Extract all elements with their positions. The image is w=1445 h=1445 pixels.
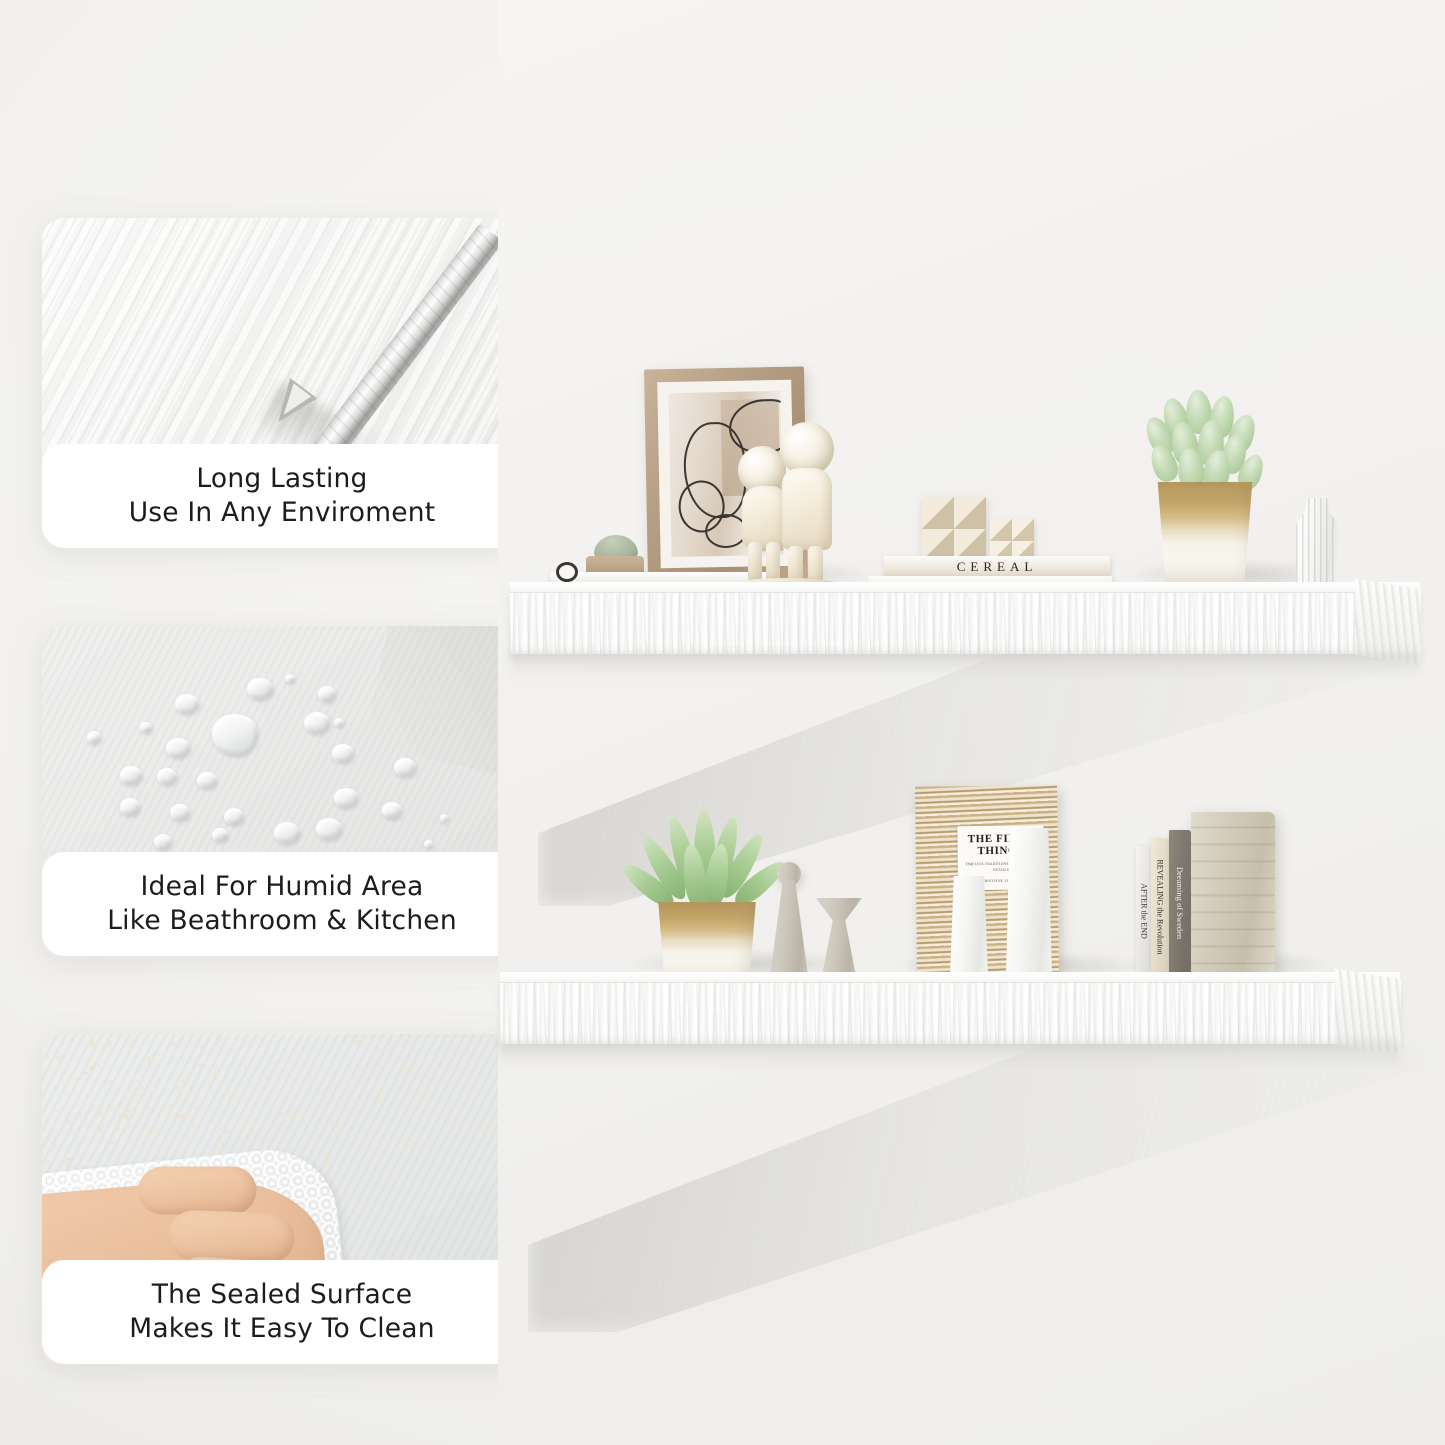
crumb: [156, 1076, 160, 1081]
water-droplet: [334, 788, 358, 808]
crumb: [378, 1048, 381, 1052]
crumb: [141, 1144, 145, 1149]
crumb: [358, 1097, 363, 1101]
crumb: [130, 1092, 135, 1095]
crumb: [264, 1075, 269, 1079]
caption-line-1: Long Lasting: [196, 462, 367, 496]
crumb: [442, 1113, 446, 1115]
crumb: [247, 1100, 250, 1103]
crumb: [247, 1078, 250, 1081]
crumb: [61, 1072, 64, 1075]
cream-leather-bound-book: [1191, 812, 1275, 976]
crumb: [98, 1064, 101, 1067]
spine-title: AFTER the END: [1139, 883, 1148, 939]
water-droplet: [87, 731, 101, 744]
crumb: [377, 1097, 380, 1102]
crumb: [377, 1130, 380, 1134]
water-droplet: [120, 766, 142, 785]
feature-card-long-lasting: Long Lasting Use In Any Enviroment: [42, 218, 522, 548]
crumb: [306, 1060, 309, 1064]
crumb: [466, 1065, 468, 1069]
crumb: [427, 1099, 429, 1103]
crumb: [190, 1090, 195, 1093]
crumb: [90, 1095, 93, 1098]
crumb: [129, 1043, 133, 1047]
crumb: [347, 1085, 351, 1089]
crumb: [65, 1160, 69, 1165]
crumb: [176, 1043, 181, 1046]
crumb: [88, 1056, 93, 1059]
crumb: [224, 1091, 229, 1094]
feature-caption: Long Lasting Use In Any Enviroment: [42, 444, 522, 548]
crumb: [140, 1115, 143, 1118]
water-droplet: [175, 694, 199, 714]
feature-card-easy-clean: The Sealed Surface Makes It Easy To Clea…: [42, 1034, 522, 1364]
crumb: [244, 1066, 248, 1071]
crumb: [199, 1121, 201, 1123]
water-droplet: [285, 674, 295, 683]
crumb: [366, 1112, 369, 1116]
water-droplet: [120, 798, 140, 816]
crumb: [375, 1117, 378, 1120]
crumb: [148, 1060, 152, 1064]
water-droplet: [170, 804, 190, 821]
crumb: [159, 1054, 161, 1056]
book-title: CEREAL: [884, 559, 1110, 575]
crumb: [290, 1083, 292, 1086]
crumb: [109, 1080, 114, 1083]
crumb: [225, 1130, 229, 1134]
crumb: [367, 1163, 371, 1166]
crumb: [464, 1073, 466, 1076]
crumb: [312, 1059, 314, 1062]
crumb: [279, 1112, 284, 1116]
crumb: [56, 1109, 59, 1112]
gold-white-glazed-pot: [654, 902, 760, 982]
taupe-candle-holder-tall: [770, 862, 808, 976]
crumb: [386, 1142, 389, 1145]
crumb: [87, 1122, 92, 1126]
crumb: [345, 1080, 348, 1085]
crumb: [292, 1099, 296, 1101]
water-droplet: [140, 722, 152, 733]
crumb: [73, 1103, 78, 1106]
shelf-underside-shadow: [510, 652, 1420, 678]
crumb: [147, 1098, 152, 1100]
crumb: [454, 1126, 456, 1128]
crumb: [465, 1100, 469, 1105]
figure-body-left: [742, 486, 786, 548]
crumb: [261, 1038, 263, 1043]
crumb: [199, 1063, 202, 1067]
shelf-front-edge: [500, 982, 1400, 1044]
succulent-in-gold-white-pot: [1134, 390, 1294, 586]
crumb: [387, 1055, 389, 1060]
water-droplet: [154, 834, 172, 850]
feature-card-humid-area: Ideal For Humid Area Like Beathroom & Ki…: [42, 626, 522, 956]
crumb: [338, 1109, 341, 1112]
crumb: [218, 1149, 221, 1154]
crumb: [325, 1161, 330, 1165]
crumb: [402, 1043, 407, 1046]
water-droplet: [334, 718, 344, 727]
crumb: [452, 1091, 455, 1093]
crumb: [303, 1111, 306, 1115]
crumb: [57, 1055, 62, 1060]
crumb: [220, 1142, 224, 1147]
crumb: [99, 1124, 104, 1128]
crumb: [414, 1144, 418, 1147]
water-droplet: [247, 678, 273, 700]
crumb: [307, 1074, 312, 1077]
figure-leg: [748, 542, 762, 582]
crumb: [361, 1059, 364, 1061]
crumb: [457, 1131, 462, 1134]
crumb: [275, 1145, 278, 1149]
crumb: [118, 1104, 120, 1106]
crumb: [463, 1216, 468, 1219]
crumb: [90, 1066, 95, 1069]
crumb: [60, 1042, 64, 1045]
crumb: [219, 1127, 222, 1130]
crumb: [314, 1076, 319, 1080]
crumb: [136, 1094, 141, 1097]
book-spine-revolution: REVEALING the Revolution: [1151, 838, 1169, 976]
crumb: [179, 1037, 184, 1041]
crumb: [282, 1094, 285, 1099]
crumb: [387, 1038, 392, 1041]
crumb: [331, 1078, 336, 1080]
crumb: [109, 1140, 114, 1144]
crumb: [107, 1102, 109, 1107]
crumb: [188, 1117, 193, 1119]
feature-caption: Ideal For Humid Area Like Beathroom & Ki…: [42, 852, 522, 956]
crumb: [329, 1141, 332, 1143]
shelf-underside-shadow: [500, 1042, 1400, 1068]
crumb: [211, 1122, 216, 1124]
crumb: [406, 1089, 409, 1091]
finger: [138, 1166, 256, 1214]
crumb: [168, 1104, 172, 1106]
holder-flared-base: [822, 920, 856, 976]
crumb: [119, 1114, 121, 1118]
water-droplet: [332, 744, 354, 763]
crumb: [429, 1177, 433, 1180]
crumb: [67, 1119, 70, 1124]
crumb: [242, 1093, 247, 1097]
crumb: [293, 1050, 298, 1054]
crumb: [219, 1039, 223, 1043]
crumb: [75, 1078, 79, 1081]
spine-title: REVEALING the Revolution: [1156, 859, 1165, 954]
agave-plant-in-gold-white-pot: [632, 810, 782, 976]
crumb: [228, 1096, 232, 1101]
figure-leg: [766, 542, 780, 582]
crumb: [45, 1138, 50, 1142]
water-droplet: [424, 840, 433, 848]
shelf-scene: CEREAL UNION: [498, 0, 1445, 1445]
crumb: [134, 1126, 136, 1129]
caption-line-2: Like Beathroom & Kitchen: [107, 904, 457, 938]
crumb: [472, 1130, 476, 1133]
crumb: [177, 1092, 182, 1095]
crumb: [127, 1049, 129, 1052]
crumb: [492, 1042, 495, 1045]
crumb: [227, 1146, 230, 1149]
crumb: [361, 1075, 366, 1077]
crumb: [65, 1092, 68, 1095]
crumb: [271, 1122, 275, 1125]
crumb: [454, 1117, 456, 1120]
crumb: [380, 1067, 383, 1071]
crumb: [248, 1130, 253, 1135]
faceted-cube-sculpture-large: [922, 497, 986, 561]
feature-card-list: Long Lasting Use In Any Enviroment Ideal…: [42, 218, 522, 1442]
crumb: [452, 1083, 457, 1087]
crumb: [492, 1165, 496, 1169]
water-droplet: [440, 814, 448, 822]
crumb: [92, 1061, 96, 1065]
crumb: [365, 1107, 368, 1112]
crumb: [166, 1137, 169, 1141]
stacked-book-cereal: CEREAL: [884, 556, 1110, 578]
crumb: [407, 1068, 410, 1070]
crumb: [152, 1053, 154, 1057]
crumb: [404, 1067, 407, 1071]
caption-line-1: Ideal For Humid Area: [141, 870, 424, 904]
crumb: [329, 1120, 334, 1124]
crumb: [126, 1109, 129, 1112]
crumb: [46, 1055, 50, 1058]
crumb: [265, 1096, 267, 1101]
crumb: [264, 1134, 268, 1137]
crumb: [354, 1139, 357, 1142]
crumb: [327, 1115, 330, 1117]
small-ring-object: [556, 562, 578, 582]
crumb: [156, 1151, 158, 1154]
water-droplet: [197, 772, 217, 789]
crumb: [405, 1084, 410, 1086]
crumb: [61, 1068, 66, 1071]
crumb: [283, 1069, 288, 1074]
crumb: [426, 1075, 429, 1079]
crumb: [232, 1104, 234, 1106]
crumb: [214, 1067, 217, 1070]
crumb: [409, 1103, 412, 1107]
crumb: [91, 1135, 94, 1140]
crumb: [468, 1048, 470, 1053]
crumb: [122, 1128, 126, 1133]
crumb: [413, 1063, 417, 1067]
crumb: [142, 1091, 146, 1095]
crumb: [98, 1103, 103, 1108]
crumb: [403, 1148, 406, 1151]
finger: [168, 1210, 296, 1264]
gold-white-glazed-pot: [1150, 482, 1260, 582]
figure-body-right: [782, 468, 832, 550]
crumb: [403, 1100, 408, 1103]
crumb: [367, 1213, 370, 1215]
crumb: [378, 1091, 382, 1096]
crumb: [248, 1045, 253, 1047]
product-feature-image: SEALED FOR MOISTURE PROTECTION Long Last…: [0, 0, 1445, 1445]
crumb: [115, 1126, 119, 1130]
crumb: [342, 1195, 347, 1199]
crumb: [59, 1130, 63, 1133]
water-droplet: [382, 802, 402, 819]
water-droplet: [316, 818, 342, 840]
crumb: [98, 1111, 102, 1115]
crumb: [92, 1040, 94, 1045]
crumb: [148, 1131, 153, 1135]
crumb: [98, 1128, 102, 1132]
crumb: [354, 1040, 359, 1043]
crumb: [132, 1085, 134, 1088]
crumb: [52, 1144, 56, 1148]
crumb: [462, 1067, 464, 1070]
crumb: [119, 1054, 121, 1057]
crumb: [291, 1129, 295, 1131]
pearl-couple-figurine: [730, 414, 850, 586]
book-spine-dreaming-of-sweden: Dreaming of Sweden: [1169, 830, 1191, 976]
crumb: [233, 1040, 237, 1042]
crumb: [329, 1087, 332, 1092]
crumb: [260, 1085, 264, 1087]
crumb: [422, 1091, 427, 1093]
crumb: [155, 1145, 160, 1149]
crumb: [353, 1135, 357, 1138]
crumb: [359, 1151, 362, 1153]
crumb: [66, 1158, 71, 1161]
crumb: [465, 1053, 470, 1055]
caption-line-1: The Sealed Surface: [152, 1278, 413, 1312]
crumb: [124, 1159, 128, 1164]
lower-shelf-board: [500, 972, 1400, 1072]
crumb: [89, 1157, 92, 1160]
crumb: [190, 1038, 192, 1041]
crumb: [329, 1168, 332, 1171]
water-droplet: [212, 828, 228, 842]
crumb: [409, 1136, 412, 1138]
crumb: [140, 1086, 144, 1090]
crumb: [246, 1117, 249, 1121]
crumb: [307, 1138, 310, 1142]
crumb: [146, 1056, 151, 1059]
holder-cone-body: [770, 880, 808, 976]
crumb: [334, 1132, 339, 1136]
crumb: [176, 1086, 180, 1091]
crumb: [128, 1125, 132, 1130]
crumb: [445, 1068, 448, 1071]
water-droplet: [224, 808, 244, 825]
crumb: [63, 1082, 65, 1085]
crumb: [235, 1051, 237, 1053]
crumb: [416, 1102, 420, 1106]
crumb: [375, 1075, 380, 1078]
crumb: [178, 1116, 183, 1119]
crumb: [290, 1114, 294, 1117]
crumb: [164, 1045, 169, 1047]
crumb: [452, 1045, 456, 1050]
crumb: [356, 1074, 358, 1077]
caption-line-2: Makes It Easy To Clean: [129, 1312, 435, 1346]
crumb: [217, 1035, 222, 1037]
upper-shelf-board: [510, 582, 1420, 682]
crumb: [246, 1147, 250, 1150]
crumb: [357, 1069, 362, 1071]
crumb: [371, 1155, 375, 1158]
crumb: [292, 1077, 295, 1079]
crumb: [185, 1081, 188, 1084]
crumb: [271, 1060, 273, 1065]
feature-caption: The Sealed Surface Makes It Easy To Clea…: [42, 1260, 522, 1364]
shelf-front-edge: [510, 592, 1420, 654]
crumb: [337, 1045, 340, 1047]
crumb: [418, 1116, 420, 1118]
water-droplet: [166, 738, 190, 758]
crumb: [201, 1045, 204, 1048]
crumb: [261, 1138, 266, 1141]
crumb: [345, 1072, 347, 1075]
crumb: [174, 1138, 178, 1140]
water-droplet: [318, 686, 336, 702]
white-cylinder-vase-short: [950, 876, 988, 976]
crumb: [135, 1079, 138, 1082]
book-spine-after-the-end: AFTER the END: [1136, 846, 1151, 976]
water-droplet: [212, 714, 258, 756]
crumb: [253, 1121, 256, 1125]
crumb: [174, 1099, 178, 1103]
crumb: [192, 1124, 195, 1128]
crumb: [213, 1072, 217, 1076]
crumb: [185, 1135, 190, 1140]
crumb: [357, 1207, 360, 1211]
crumb: [107, 1042, 112, 1047]
crumb: [46, 1161, 51, 1164]
taupe-candle-holder-short: [816, 898, 862, 976]
crumb: [103, 1080, 107, 1084]
crumb: [216, 1044, 218, 1046]
crumb: [447, 1104, 450, 1109]
crumb: [446, 1056, 449, 1058]
crumb: [336, 1124, 340, 1129]
crumb: [119, 1128, 121, 1130]
crumb: [271, 1073, 274, 1075]
crumb: [129, 1039, 134, 1042]
spine-title: Dreaming of Sweden: [1175, 867, 1185, 939]
water-droplet: [274, 822, 300, 844]
crumb: [146, 1106, 151, 1109]
crumb: [208, 1151, 213, 1155]
crumb: [296, 1056, 299, 1059]
crumb: [102, 1047, 105, 1052]
crumb: [399, 1105, 402, 1108]
crumb: [491, 1121, 496, 1123]
crumb: [84, 1071, 88, 1075]
crumb: [439, 1080, 443, 1085]
crumb: [193, 1106, 197, 1110]
crumb: [428, 1138, 431, 1141]
crumb: [429, 1070, 434, 1075]
crumb: [347, 1100, 351, 1104]
crumb: [388, 1177, 390, 1181]
crumb: [124, 1093, 126, 1097]
water-droplet: [394, 758, 416, 777]
water-droplet: [157, 768, 177, 785]
crumb: [323, 1107, 326, 1111]
water-droplet: [304, 712, 330, 734]
crumb: [102, 1044, 106, 1047]
